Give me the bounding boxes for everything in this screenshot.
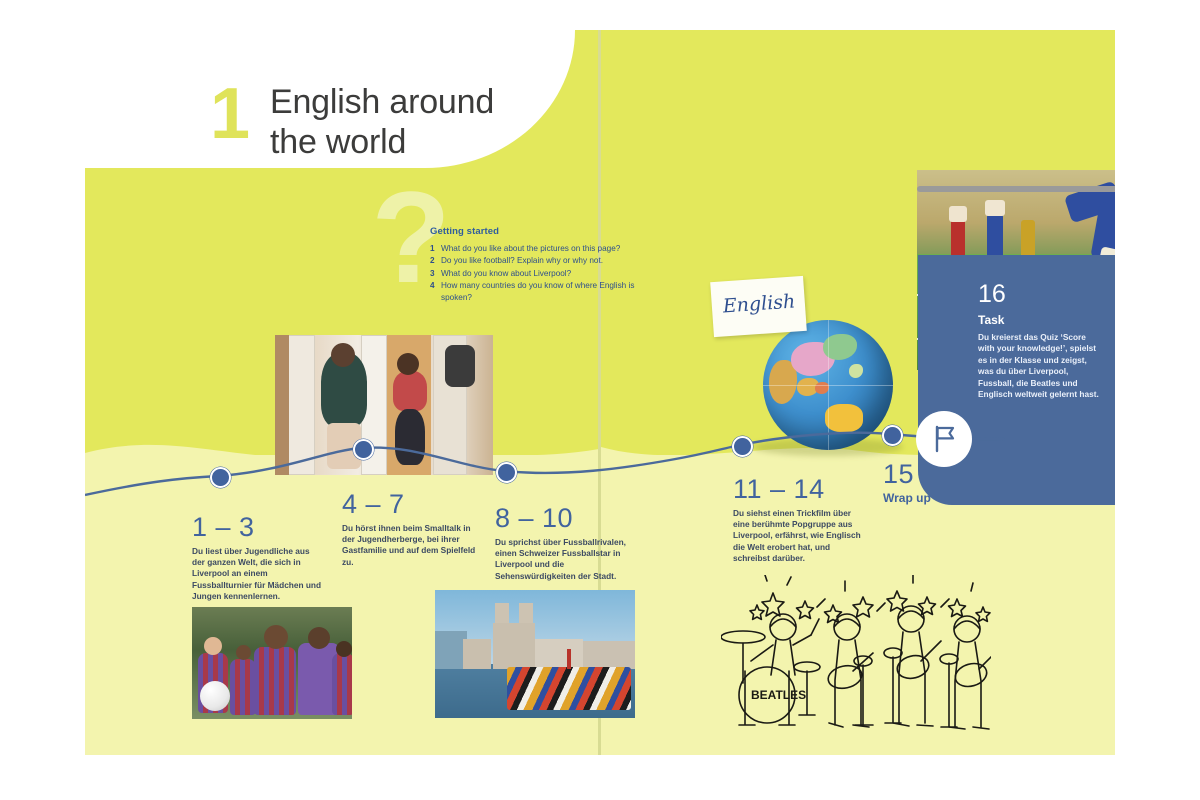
sec-15: 15 Wrap up: [883, 460, 993, 505]
task-label: Task: [978, 313, 1004, 327]
getting-started-block: Getting started 1 What do you like about…: [430, 226, 655, 304]
photo-hostel: [275, 335, 493, 475]
sec-8-10: 8 – 10 Du sprichst über Fussballrivalen,…: [495, 504, 630, 582]
section-description: Du liest über Jugendliche aus der ganzen…: [192, 546, 322, 602]
getting-started-heading: Getting started: [430, 226, 655, 237]
section-description: Du hörst ihnen beim Smalltalk in der Jug…: [342, 523, 477, 568]
photo-girls-football: [192, 607, 352, 719]
section-number: 1 – 3: [192, 513, 322, 542]
section-subtitle: Wrap up: [883, 491, 993, 505]
task-number: 16: [978, 280, 1006, 309]
textbook-spread-screenshot: 1 English around the world ? Getting sta…: [0, 0, 1200, 800]
list-item: 1 What do you like about the pictures on…: [430, 243, 655, 254]
item-number: 3: [430, 268, 441, 279]
section-number: 11 – 14: [733, 475, 863, 504]
book-spread: 1 English around the world ? Getting sta…: [85, 30, 1115, 755]
sec-4-7: 4 – 7 Du hörst ihnen beim Smalltalk in d…: [342, 490, 477, 568]
item-text: How many countries do you know of where …: [441, 280, 655, 303]
getting-started-list: 1 What do you like about the pictures on…: [430, 243, 655, 303]
chapter-number: 1: [210, 78, 250, 150]
item-number: 1: [430, 243, 441, 254]
beatles-drawing: BEATLES: [721, 575, 991, 750]
item-text: What do you like about the pictures on t…: [441, 243, 655, 254]
list-item: 3 What do you know about Liverpool?: [430, 268, 655, 279]
photo-liverpool: [435, 590, 635, 718]
chapter-title-line-2: the world: [270, 122, 494, 162]
list-item: 4 How many countries do you know of wher…: [430, 280, 655, 303]
list-item: 2 Do you like football? Explain why or w…: [430, 255, 655, 266]
svg-text:BEATLES: BEATLES: [751, 688, 806, 702]
beatles-band-illustration: BEATLES: [721, 575, 991, 750]
section-description: Du sprichst über Fussballrivalen, einen …: [495, 537, 630, 582]
section-number: 4 – 7: [342, 490, 477, 519]
section-description: Du siehst einen Trickfilm über eine berü…: [733, 508, 863, 564]
football-ball-icon: [200, 681, 230, 711]
item-number: 2: [430, 255, 441, 266]
section-number: 8 – 10: [495, 504, 630, 533]
item-text: Do you like football? Explain why or why…: [441, 255, 655, 266]
page-title: English around the world: [270, 82, 494, 162]
sec-1-3: 1 – 3 Du liest über Jugendliche aus der …: [192, 513, 322, 602]
sticky-note-text: English: [722, 290, 796, 317]
sticky-note-english: English: [710, 276, 807, 337]
sec-11-14: 11 – 14 Du siehst einen Trickfilm über e…: [733, 475, 863, 564]
section-number: 15: [883, 460, 993, 489]
ferry-boat: [507, 667, 631, 711]
item-number: 4: [430, 280, 441, 303]
globe-image: [763, 320, 893, 450]
flag-glyph: [929, 424, 959, 454]
chapter-title-line-1: English around: [270, 82, 494, 122]
task-description: Du kreierst das Quiz ‘Score with your kn…: [978, 332, 1100, 400]
item-text: What do you know about Liverpool?: [441, 268, 655, 279]
flag-icon: [916, 411, 972, 467]
